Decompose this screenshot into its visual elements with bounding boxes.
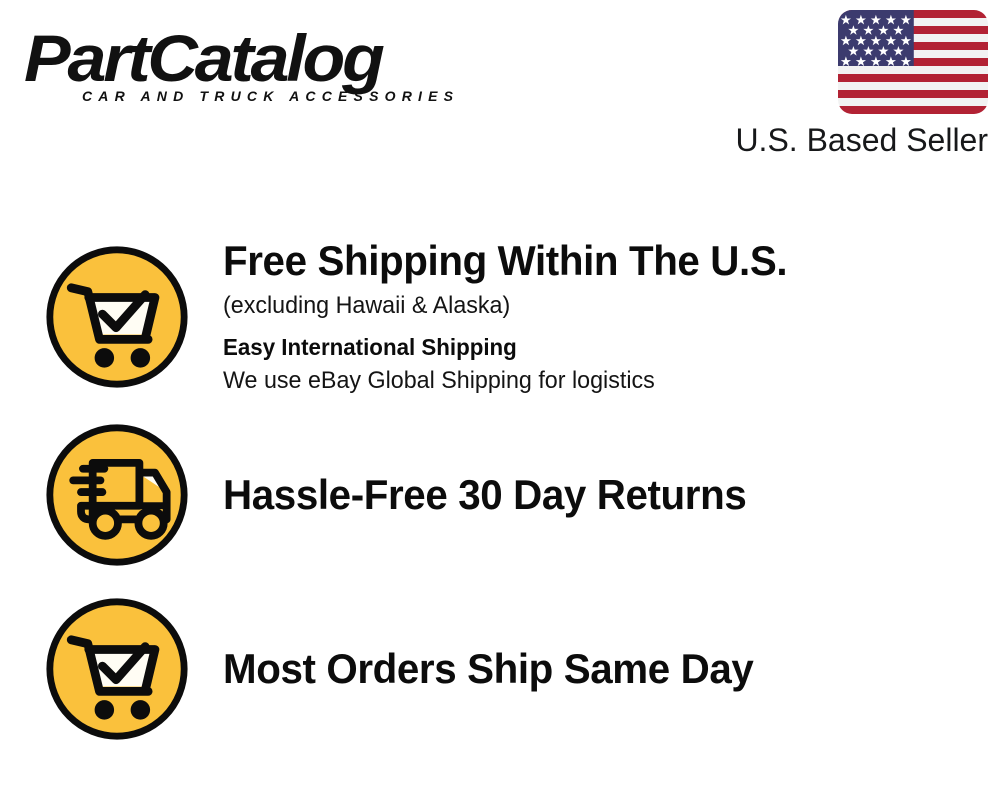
feature-row: Free Shipping Within The U.S. (excluding… — [0, 236, 1000, 398]
feature-text-block: Free Shipping Within The U.S. (excluding… — [223, 237, 1000, 398]
feature-sub-text: We use eBay Global Shipping for logistic… — [223, 364, 957, 398]
feature-headline: Hassle-Free 30 Day Returns — [223, 471, 950, 519]
feature-row: Hassle-Free 30 Day Returns — [0, 414, 1000, 576]
feature-headline: Most Orders Ship Same Day — [223, 645, 950, 693]
brand-wordmark: PartCatalog — [24, 24, 522, 92]
shopping-cart-check-icon — [44, 596, 190, 742]
us-flag-icon — [838, 10, 988, 114]
feature-row: Most Orders Ship Same Day — [0, 588, 1000, 750]
feature-sub-headline: Easy International Shipping — [223, 330, 957, 364]
us-based-seller-badge: U.S. Based Seller — [724, 10, 988, 159]
feature-headline: Free Shipping Within The U.S. — [223, 237, 950, 285]
feature-text-block: Hassle-Free 30 Day Returns — [223, 471, 1000, 519]
brand-logo: PartCatalog CAR AND TRUCK ACCESSORIES — [24, 24, 494, 114]
feature-note: (excluding Hawaii & Alaska) — [223, 289, 957, 323]
shopping-cart-check-icon — [44, 244, 190, 390]
feature-text-block: Most Orders Ship Same Day — [223, 645, 1000, 693]
delivery-truck-icon — [44, 422, 190, 568]
us-based-seller-label: U.S. Based Seller — [724, 121, 988, 159]
shipping-info-banner: PartCatalog CAR AND TRUCK ACCESSORIES — [0, 0, 1000, 800]
